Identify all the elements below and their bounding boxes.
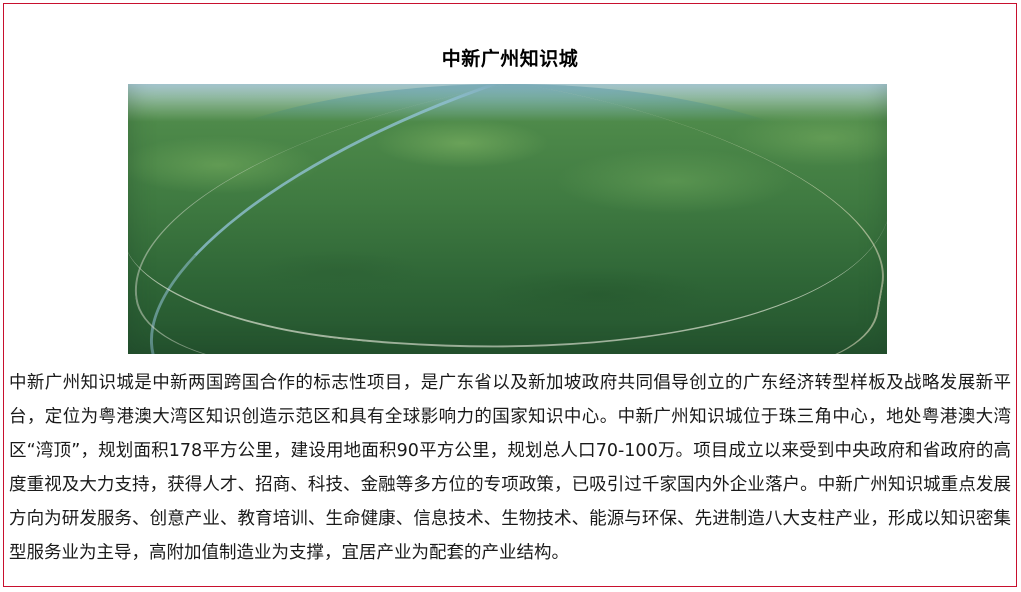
hero-vignette [128,84,887,354]
page-title: 中新广州知识城 [4,46,1016,72]
page-frame: 中新广州知识城 中新广州知识城是中新两国跨国合作的标志性项目，是广东省以及新加坡… [3,3,1017,587]
hero-image [128,84,887,354]
article-paragraph: 中新广州知识城是中新两国跨国合作的标志性项目，是广东省以及新加坡政府共同倡导创立… [9,366,1011,570]
